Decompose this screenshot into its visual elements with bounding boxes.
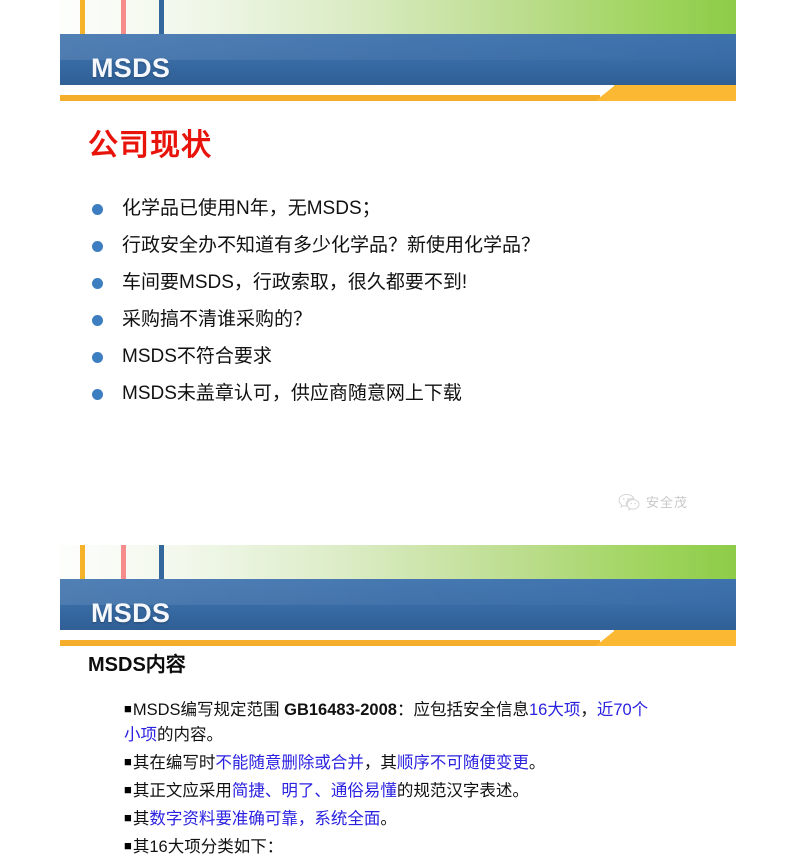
bullet-item: 行政安全办不知道有多少化学品？新使用化学品？	[92, 233, 712, 261]
bullet-dot-icon	[92, 241, 103, 252]
text-segment: 简捷、明了、通俗易懂	[232, 782, 397, 800]
bullet-dot-icon	[92, 204, 103, 215]
section-title: MSDS内容	[88, 655, 186, 675]
bullet-item: MSDS不符合要求	[92, 344, 712, 372]
text-segment: 的内容。	[157, 726, 223, 744]
text-segment: 。	[380, 810, 397, 828]
content-line: ■其正文应采用简捷、明了、通俗易懂的规范汉字表述。	[124, 777, 664, 804]
text-segment: ，	[580, 701, 597, 719]
text-segment: ：应包括安全信息	[397, 701, 529, 719]
bullet-label: 行政安全办不知道有多少化学品？新使用化学品？	[122, 233, 540, 259]
text-segment: MSDS编写规定范围	[133, 701, 284, 719]
bullet-dot-icon	[92, 352, 103, 363]
header-title: MSDS	[91, 600, 170, 627]
text-segment: 数字资料要准确可靠，系统全面	[149, 810, 380, 828]
bullet-label: MSDS未盖章认可，供应商随意网上下载	[122, 381, 462, 407]
content-line: ■其数字资料要准确可靠，系统全面。	[124, 805, 664, 832]
bullet-dot-icon	[92, 315, 103, 326]
content-line-list: ■MSDS编写规定范围 GB16483-2008：应包括安全信息16大项，近70…	[124, 696, 664, 861]
square-bullet-icon: ■	[124, 701, 132, 716]
header-baseline-thin	[60, 640, 600, 646]
page-title: 公司现状	[88, 131, 212, 161]
header-baseline-thin	[60, 95, 600, 101]
square-bullet-icon: ■	[124, 754, 132, 769]
text-segment: 其	[133, 810, 150, 828]
text-segment: 其正文应采用	[133, 782, 232, 800]
bullet-label: MSDS不符合要求	[122, 344, 272, 370]
header-stripe-pink	[121, 0, 126, 34]
slide-header: MSDS	[0, 0, 801, 85]
header-baseline-wedge	[596, 630, 616, 646]
header-baseline-thick	[614, 630, 736, 646]
header-title: MSDS	[91, 55, 170, 82]
text-segment: 16大项	[529, 701, 580, 719]
bullet-list: 化学品已使用N年，无MSDS；行政安全办不知道有多少化学品？新使用化学品？车间要…	[92, 196, 712, 418]
bullet-dot-icon	[92, 389, 103, 400]
header-stripe-orange	[80, 0, 85, 34]
slide-header: MSDS	[0, 545, 801, 630]
content-line: ■其在编写时不能随意删除或合并，其顺序不可随便变更。	[124, 749, 664, 776]
text-segment: ，其	[364, 754, 397, 772]
header-stripe-orange	[80, 545, 85, 579]
watermark-text: 安全茂	[646, 496, 688, 509]
header-baseline-wedge	[596, 85, 616, 101]
header-stripe-pink	[121, 545, 126, 579]
bullet-label: 化学品已使用N年，无MSDS；	[122, 196, 381, 222]
slide-company-status: MSDS 公司现状 化学品已使用N年，无MSDS；行政安全办不知道有多少化学品？…	[0, 0, 801, 545]
wechat-icon	[618, 493, 640, 512]
text-segment: 不能随意删除或合并	[215, 754, 364, 772]
watermark: 安全茂	[618, 493, 688, 512]
square-bullet-icon: ■	[124, 838, 132, 853]
bullet-item: 化学品已使用N年，无MSDS；	[92, 196, 712, 224]
content-line: ■其16大项分类如下：	[124, 833, 664, 860]
text-segment: 其在编写时	[133, 754, 216, 772]
text-segment: 。	[529, 754, 546, 772]
header-stripe-blue	[159, 0, 164, 34]
bullet-item: 采购搞不清谁采购的？	[92, 307, 712, 335]
text-segment: 顺序不可随便变更	[397, 754, 529, 772]
content-line: ■MSDS编写规定范围 GB16483-2008：应包括安全信息16大项，近70…	[124, 696, 664, 748]
square-bullet-icon: ■	[124, 782, 132, 797]
bullet-label: 车间要MSDS，行政索取，很久都要不到!	[122, 270, 467, 296]
bullet-label: 采购搞不清谁采购的？	[122, 307, 312, 333]
text-segment: 的规范汉字表述。	[397, 782, 529, 800]
text-segment: GB16483-2008	[284, 701, 397, 719]
text-segment: 其16大项分类如下：	[133, 838, 283, 856]
bullet-item: MSDS未盖章认可，供应商随意网上下载	[92, 381, 712, 409]
square-bullet-icon: ■	[124, 810, 132, 825]
header-stripe-blue	[159, 545, 164, 579]
bullet-dot-icon	[92, 278, 103, 289]
header-baseline-thick	[614, 85, 736, 101]
bullet-item: 车间要MSDS，行政索取，很久都要不到!	[92, 270, 712, 298]
